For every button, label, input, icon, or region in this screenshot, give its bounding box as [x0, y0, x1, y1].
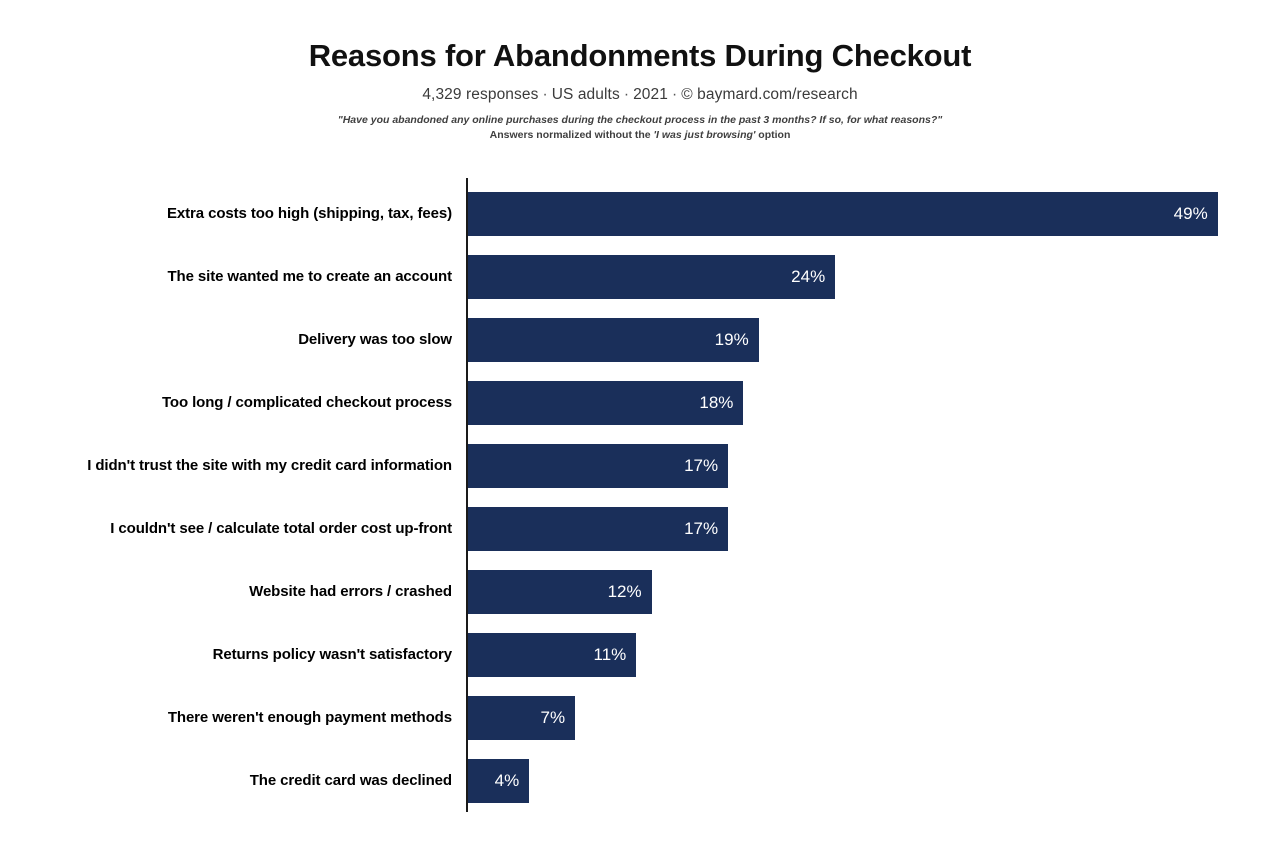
- bar-wrapper: 7%: [468, 696, 575, 740]
- bar[interactable]: 4%: [468, 759, 529, 803]
- bar-wrapper: 12%: [468, 570, 652, 614]
- bar[interactable]: 17%: [468, 507, 728, 551]
- bar[interactable]: 12%: [468, 570, 652, 614]
- bar-wrapper: 18%: [468, 381, 743, 425]
- bar-value-label: 49%: [1174, 192, 1208, 236]
- bar-wrapper: 17%: [468, 444, 728, 488]
- bar[interactable]: 24%: [468, 255, 835, 299]
- bar-row[interactable]: Too long / complicated checkout process1…: [0, 381, 1280, 425]
- bar-value-label: 19%: [715, 318, 749, 362]
- page-title: Reasons for Abandonments During Checkout: [0, 0, 1280, 74]
- bar-value-label: 4%: [495, 759, 520, 803]
- bar-category-label: I couldn't see / calculate total order c…: [110, 507, 452, 551]
- note-suffix: option: [755, 129, 790, 141]
- bar-category-label: I didn't trust the site with my credit c…: [87, 444, 452, 488]
- bar-value-label: 7%: [541, 696, 566, 740]
- meta-separator-1: ·: [538, 86, 551, 103]
- bar-value-label: 17%: [684, 444, 718, 488]
- bar-row[interactable]: Website had errors / crashed12%: [0, 570, 1280, 614]
- note-prefix: Answers normalized without the: [490, 129, 654, 141]
- bar-row[interactable]: I couldn't see / calculate total order c…: [0, 507, 1280, 551]
- note-emphasis: 'I was just browsing': [654, 129, 756, 141]
- bar[interactable]: 17%: [468, 444, 728, 488]
- bar[interactable]: 11%: [468, 633, 636, 677]
- meta-source: © baymard.com/research: [681, 86, 857, 103]
- bar-value-label: 24%: [791, 255, 825, 299]
- bar-row[interactable]: The credit card was declined4%: [0, 759, 1280, 803]
- meta-responses: 4,329 responses: [422, 86, 538, 103]
- bar-category-label: Website had errors / crashed: [249, 570, 452, 614]
- bar[interactable]: 49%: [468, 192, 1218, 236]
- bar-value-label: 12%: [608, 570, 642, 614]
- bar-row[interactable]: I didn't trust the site with my credit c…: [0, 444, 1280, 488]
- bar-wrapper: 24%: [468, 255, 835, 299]
- bar-category-label: Too long / complicated checkout process: [162, 381, 452, 425]
- bar-category-label: Extra costs too high (shipping, tax, fee…: [167, 192, 452, 236]
- meta-audience: US adults: [552, 86, 620, 103]
- bar-row[interactable]: Delivery was too slow19%: [0, 318, 1280, 362]
- chart-meta-line: 4,329 responses·US adults·2021·© baymard…: [0, 74, 1280, 104]
- bar-category-label: The site wanted me to create an account: [167, 255, 452, 299]
- bar-wrapper: 4%: [468, 759, 529, 803]
- bar-category-label: Returns policy wasn't satisfactory: [213, 633, 452, 677]
- survey-question: "Have you abandoned any online purchases…: [0, 104, 1280, 127]
- bar-wrapper: 11%: [468, 633, 636, 677]
- bar-value-label: 17%: [684, 507, 718, 551]
- chart-header: Reasons for Abandonments During Checkout…: [0, 0, 1280, 142]
- bar-value-label: 18%: [699, 381, 733, 425]
- bar-wrapper: 49%: [468, 192, 1218, 236]
- bar-row[interactable]: Returns policy wasn't satisfactory11%: [0, 633, 1280, 677]
- meta-separator-3: ·: [668, 86, 681, 103]
- meta-separator-2: ·: [620, 86, 633, 103]
- bar-wrapper: 17%: [468, 507, 728, 551]
- meta-year: 2021: [633, 86, 668, 103]
- bar-row[interactable]: Extra costs too high (shipping, tax, fee…: [0, 192, 1280, 236]
- bar-category-label: Delivery was too slow: [298, 318, 452, 362]
- plot-area: Extra costs too high (shipping, tax, fee…: [0, 178, 1280, 818]
- normalization-note: Answers normalized without the 'I was ju…: [0, 127, 1280, 142]
- bar-category-label: The credit card was declined: [250, 759, 452, 803]
- bar-wrapper: 19%: [468, 318, 759, 362]
- bar-category-label: There weren't enough payment methods: [168, 696, 452, 740]
- chart-container: Reasons for Abandonments During Checkout…: [0, 0, 1280, 842]
- bar[interactable]: 19%: [468, 318, 759, 362]
- bar[interactable]: 7%: [468, 696, 575, 740]
- bar-value-label: 11%: [594, 633, 627, 677]
- bar[interactable]: 18%: [468, 381, 743, 425]
- bar-row[interactable]: There weren't enough payment methods7%: [0, 696, 1280, 740]
- bar-row[interactable]: The site wanted me to create an account2…: [0, 255, 1280, 299]
